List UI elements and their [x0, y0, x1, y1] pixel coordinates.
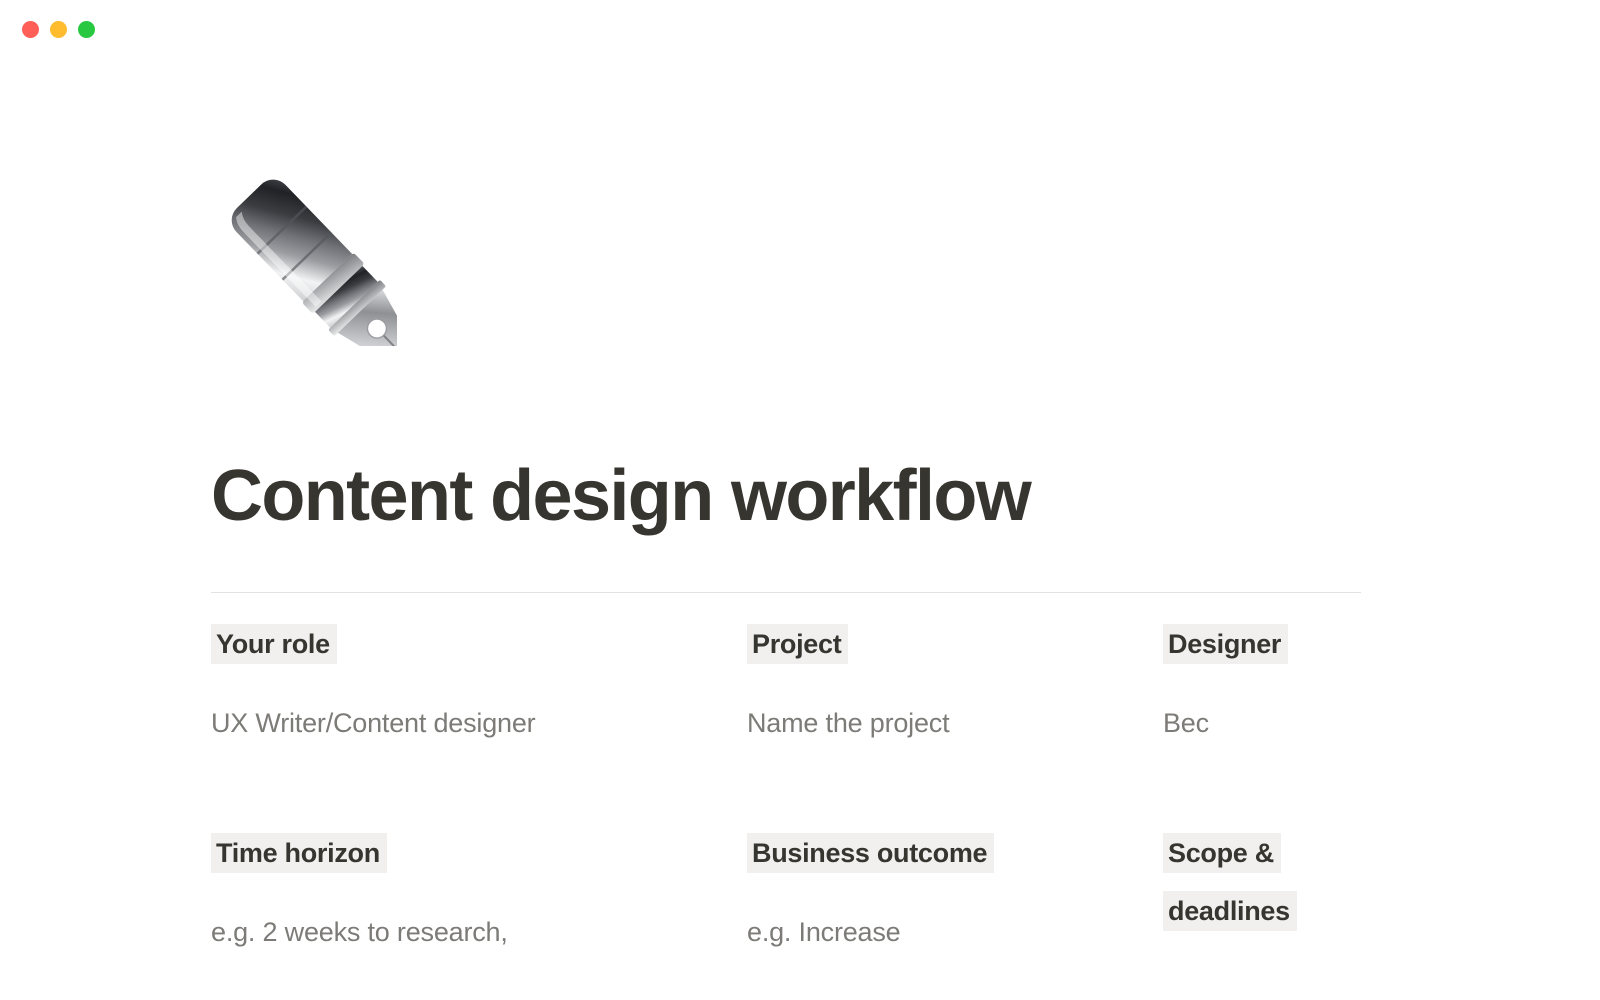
- field-your-role: Your role UX Writer/Content designer: [211, 620, 681, 742]
- field-label[interactable]: Time horizon: [211, 833, 387, 873]
- field-project: Project Name the project: [747, 620, 1117, 742]
- field-label-wrap: Designer: [1163, 620, 1361, 678]
- field-label-wrap: Scope & deadlines: [1163, 829, 1361, 945]
- field-value[interactable]: e.g. 2 weeks to research,: [211, 913, 681, 951]
- maximize-window-button[interactable]: [78, 21, 95, 38]
- field-label-wrap: Time horizon: [211, 829, 681, 887]
- field-value[interactable]: e.g. Increase: [747, 913, 1117, 951]
- close-window-button[interactable]: [22, 21, 39, 38]
- field-value[interactable]: UX Writer/Content designer: [211, 704, 681, 742]
- field-value[interactable]: Bec: [1163, 704, 1361, 742]
- field-time-horizon: Time horizon e.g. 2 weeks to research,: [211, 829, 681, 951]
- field-business-outcome: Business outcome e.g. Increase: [747, 829, 1117, 951]
- traffic-lights: [22, 21, 95, 38]
- field-label[interactable]: Project: [747, 624, 848, 664]
- field-row: Time horizon e.g. 2 weeks to research, B…: [211, 829, 1361, 1000]
- page-title[interactable]: Content design workflow: [211, 453, 1030, 539]
- field-label[interactable]: Designer: [1163, 624, 1288, 664]
- field-value[interactable]: Name the project: [747, 704, 1117, 742]
- field-label[interactable]: Scope & deadlines: [1163, 833, 1297, 931]
- field-label-wrap: Your role: [211, 620, 681, 678]
- fountain-pen-icon[interactable]: [211, 160, 397, 346]
- minimize-window-button[interactable]: [50, 21, 67, 38]
- field-label[interactable]: Your role: [211, 624, 337, 664]
- field-label-wrap: Project: [747, 620, 1117, 678]
- field-label-wrap: Business outcome: [747, 829, 1117, 887]
- field-designer: Designer Bec: [1163, 620, 1361, 742]
- field-scope-deadlines: Scope & deadlines: [1163, 829, 1361, 971]
- document-page: Content design workflow Your role UX Wri…: [0, 60, 1600, 1000]
- field-label[interactable]: Business outcome: [747, 833, 994, 873]
- field-row: Your role UX Writer/Content designer Pro…: [211, 620, 1361, 829]
- field-grid: Your role UX Writer/Content designer Pro…: [211, 620, 1361, 1000]
- app-window: Content design workflow Your role UX Wri…: [0, 0, 1600, 1000]
- window-titlebar: [0, 0, 1600, 60]
- divider: [211, 592, 1361, 593]
